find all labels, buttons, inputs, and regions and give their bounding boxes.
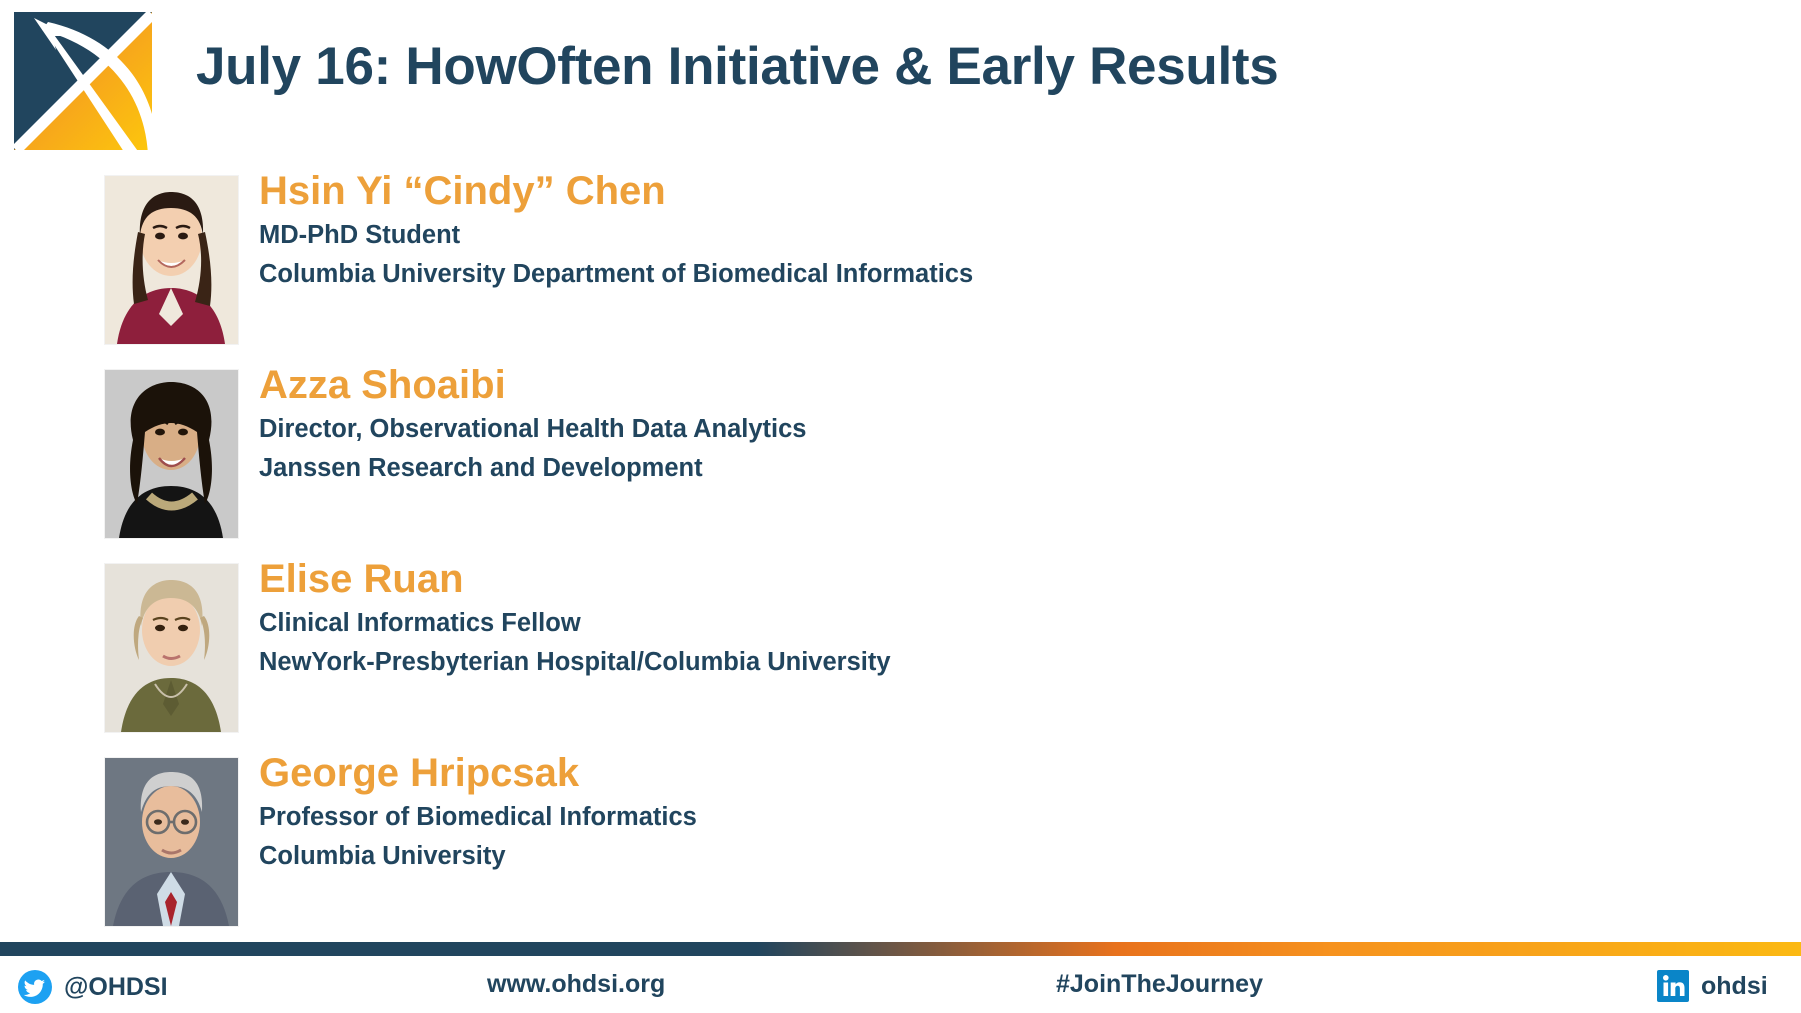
ohdsi-logo bbox=[8, 6, 168, 156]
footer-hashtag: #JoinTheJourney bbox=[1056, 970, 1263, 999]
page-title: July 16: HowOften Initiative & Early Res… bbox=[196, 36, 1278, 97]
twitter-bird-icon bbox=[18, 970, 52, 1004]
speaker-photo-hsin-yi-cindy-chen bbox=[105, 176, 238, 344]
speaker-affiliation: Columbia University Department of Biomed… bbox=[259, 255, 973, 294]
speaker-name: Elise Ruan bbox=[259, 558, 891, 600]
speaker-role: Clinical Informatics Fellow bbox=[259, 604, 891, 643]
speaker-details: Azza Shoaibi Director, Observational Hea… bbox=[259, 364, 807, 488]
footer-twitter[interactable]: @OHDSI bbox=[18, 970, 168, 1004]
footer-hashtag-label: #JoinTheJourney bbox=[1056, 970, 1263, 999]
speaker-details: Elise Ruan Clinical Informatics Fellow N… bbox=[259, 558, 891, 682]
speaker-list: Hsin Yi “Cindy” Chen MD-PhD Student Colu… bbox=[0, 170, 1801, 946]
speaker-name: George Hripcsak bbox=[259, 752, 697, 794]
speaker-role: MD-PhD Student bbox=[259, 216, 973, 255]
footer: @OHDSI www.ohdsi.org #JoinTheJourney ohd… bbox=[0, 956, 1801, 1013]
speaker-role: Professor of Biomedical Informatics bbox=[259, 798, 697, 837]
footer-website-label: www.ohdsi.org bbox=[487, 970, 665, 999]
speaker-affiliation: Columbia University bbox=[259, 837, 697, 876]
footer-linkedin-handle: ohdsi bbox=[1701, 972, 1768, 1001]
speaker-photo-elise-ruan bbox=[105, 564, 238, 732]
speaker-name: Azza Shoaibi bbox=[259, 364, 807, 406]
speaker-role: Director, Observational Health Data Anal… bbox=[259, 410, 807, 449]
speaker-name: Hsin Yi “Cindy” Chen bbox=[259, 170, 973, 212]
speaker-entry: Elise Ruan Clinical Informatics Fellow N… bbox=[0, 558, 1801, 752]
footer-gradient-bar bbox=[0, 942, 1801, 956]
speaker-affiliation: Janssen Research and Development bbox=[259, 449, 807, 488]
speaker-photo-azza-shoaibi bbox=[105, 370, 238, 538]
speaker-entry: Azza Shoaibi Director, Observational Hea… bbox=[0, 364, 1801, 558]
speaker-details: George Hripcsak Professor of Biomedical … bbox=[259, 752, 697, 876]
speaker-photo-george-hripcsak bbox=[105, 758, 238, 926]
footer-twitter-handle: @OHDSI bbox=[64, 973, 168, 1002]
speaker-details: Hsin Yi “Cindy” Chen MD-PhD Student Colu… bbox=[259, 170, 973, 294]
speaker-affiliation: NewYork-Presbyterian Hospital/Columbia U… bbox=[259, 643, 891, 682]
linkedin-in-icon bbox=[1657, 970, 1689, 1002]
speaker-entry: Hsin Yi “Cindy” Chen MD-PhD Student Colu… bbox=[0, 170, 1801, 364]
footer-linkedin[interactable]: ohdsi bbox=[1657, 970, 1768, 1002]
footer-website[interactable]: www.ohdsi.org bbox=[487, 970, 665, 999]
speaker-entry: George Hripcsak Professor of Biomedical … bbox=[0, 752, 1801, 946]
